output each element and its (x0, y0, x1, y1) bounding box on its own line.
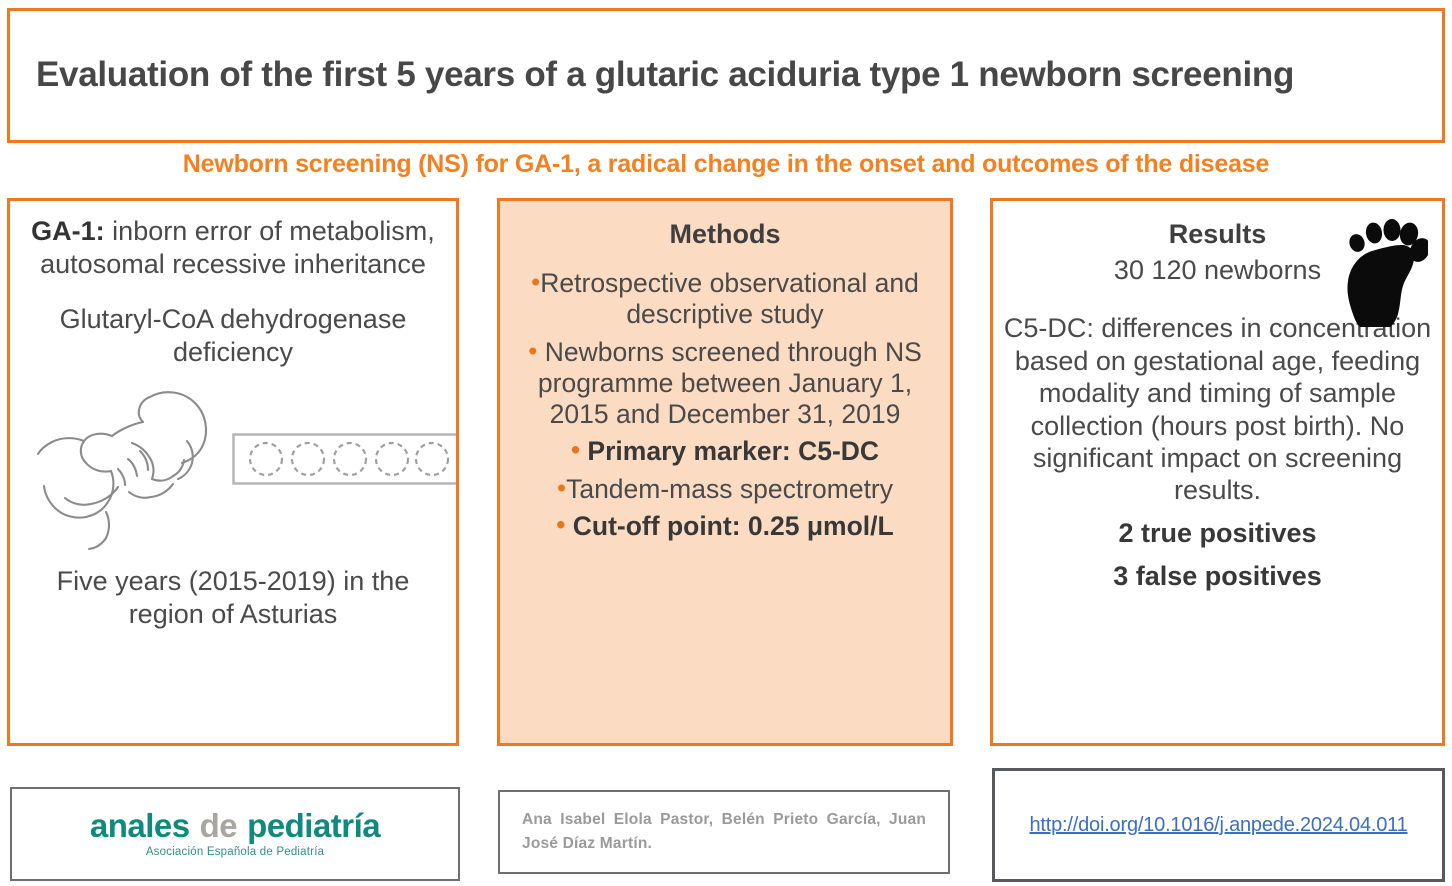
logo-word-de: de (200, 807, 238, 844)
methods-item-text: Primary marker: C5-DC (587, 436, 879, 466)
list-item: • Newborns screened through NS programme… (500, 337, 950, 431)
authors-list: Ana Isabel Elola Pastor, Belén Prieto Ga… (500, 808, 948, 856)
results-body-text: C5-DC: differences in concentration base… (993, 312, 1442, 506)
subtitle: Newborn screening (NS) for GA-1, a radic… (0, 150, 1452, 179)
list-item: • Cut-off point: 0.25 μmol/L (500, 511, 950, 542)
methods-item-text: Cut-off point: 0.25 μmol/L (573, 511, 894, 541)
baby-footprint-icon (1342, 217, 1428, 327)
journal-logo-text: analesdepediatría (90, 809, 380, 842)
methods-heading: Methods (500, 219, 950, 250)
true-positives: 2 true positives (993, 517, 1442, 551)
false-positives: 3 false positives (993, 560, 1442, 594)
methods-item-text: Tandem-mass spectrometry (566, 474, 893, 504)
bullet-icon: • (528, 335, 537, 365)
left-panel-artwork (10, 377, 456, 555)
list-item: •Tandem-mass spectrometry (500, 474, 950, 505)
bullet-icon: • (556, 510, 565, 540)
background-panel: GA-1: inborn error of metabolism, autoso… (7, 198, 459, 746)
enzyme-deficiency: Glutaryl-CoA dehydrogenase deficiency (10, 303, 456, 369)
ga1-definition: GA-1: inborn error of metabolism, autoso… (10, 215, 456, 281)
newborn-baby-icon (32, 379, 228, 551)
methods-item-text: Newborns screened through NS programme b… (538, 337, 922, 430)
bullet-icon: • (557, 472, 566, 502)
graphical-abstract: Evaluation of the first 5 years of a glu… (0, 0, 1452, 886)
study-period-region: Five years (2015-2019) in the region of … (10, 565, 456, 631)
journal-logo-box: analesdepediatría Asociación Española de… (10, 787, 460, 881)
bullet-icon: • (571, 435, 580, 465)
logo-word-anales: anales (90, 807, 190, 844)
page-title: Evaluation of the first 5 years of a glu… (10, 55, 1304, 95)
methods-item-text: Retrospective observational and descript… (540, 268, 919, 329)
journal-logo: analesdepediatría Asociación Española de… (90, 809, 380, 859)
dried-blood-spot-card-icon (232, 433, 459, 485)
doi-box: http://doi.org/10.1016/j.anpede.2024.04.… (992, 768, 1445, 882)
title-box: Evaluation of the first 5 years of a glu… (7, 8, 1445, 143)
authors-box: Ana Isabel Elola Pastor, Belén Prieto Ga… (498, 790, 950, 874)
results-panel: Results 30 120 newborns C5-DC: differenc… (990, 198, 1445, 746)
list-item: •Retrospective observational and descrip… (500, 268, 950, 331)
logo-word-pediatria: pediatría (247, 807, 380, 844)
list-item: • Primary marker: C5-DC (500, 436, 950, 467)
ga1-label: GA-1: (31, 216, 105, 246)
doi-link[interactable]: http://doi.org/10.1016/j.anpede.2024.04.… (1029, 814, 1407, 837)
methods-panel: Methods •Retrospective observational and… (497, 198, 953, 746)
logo-tagline: Asociación Española de Pediatría (90, 847, 380, 859)
bullet-icon: • (531, 267, 540, 297)
methods-list: •Retrospective observational and descrip… (500, 268, 950, 542)
